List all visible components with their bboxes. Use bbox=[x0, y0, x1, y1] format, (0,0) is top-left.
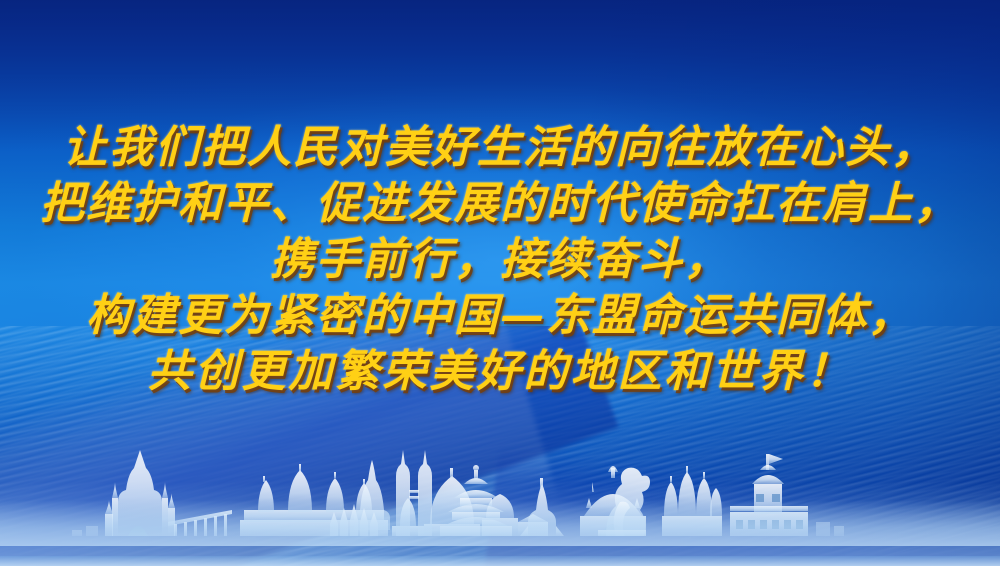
slogan-line-2: 把维护和平、促进发展的时代使命扛在肩上， bbox=[0, 176, 1000, 232]
slogan-line-5: 共创更加繁荣美好的地区和世界！ bbox=[0, 344, 1000, 400]
slogan-line-3: 携手前行，接续奋斗， bbox=[0, 232, 1000, 288]
slide-canvas: 让我们把人民对美好生活的向往放在心头， 把维护和平、促进发展的时代使命扛在肩上，… bbox=[0, 0, 1000, 566]
slogan-line-1: 让我们把人民对美好生活的向往放在心头， bbox=[0, 120, 1000, 176]
slogan-block: 让我们把人民对美好生活的向往放在心头， 把维护和平、促进发展的时代使命扛在肩上，… bbox=[0, 120, 1000, 400]
bottom-edge-highlight bbox=[0, 556, 1000, 566]
slogan-line-4: 构建更为紧密的中国—东盟命运共同体， bbox=[0, 288, 1000, 344]
